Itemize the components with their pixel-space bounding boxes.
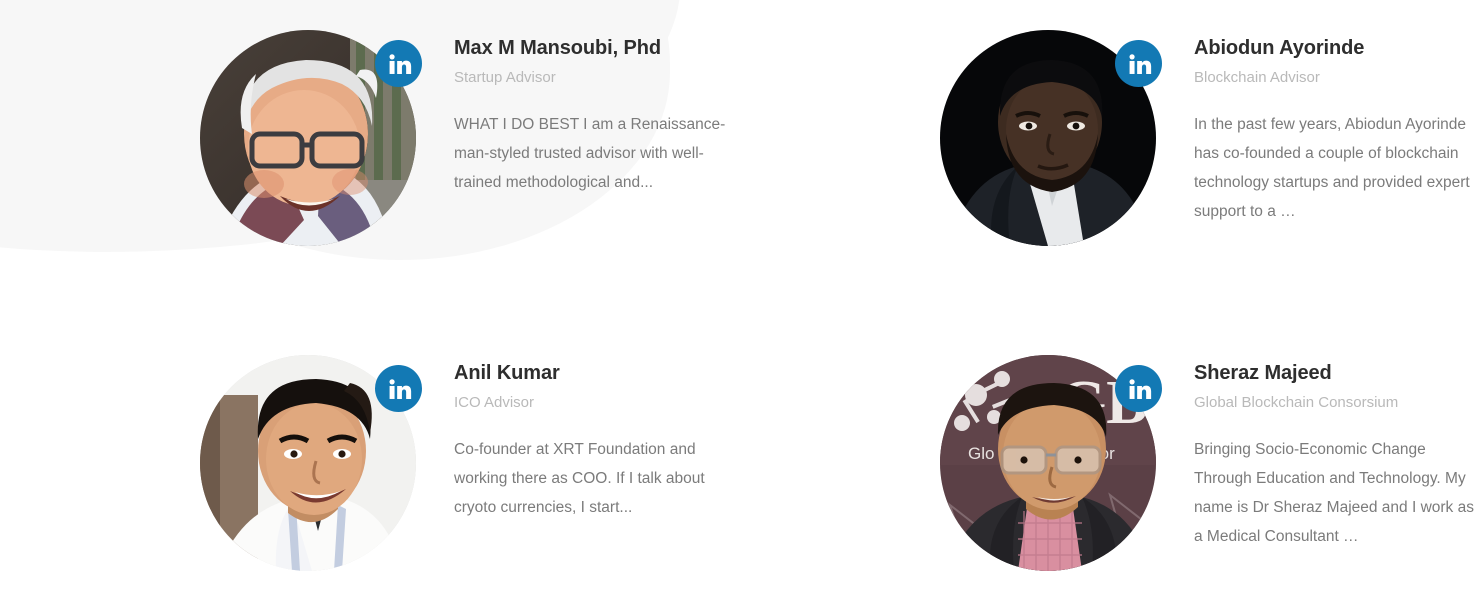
advisors-section: Max M Mansoubi, Phd Startup Advisor WHAT…: [0, 0, 1481, 602]
advisor-role: Blockchain Advisor: [1194, 68, 1476, 88]
advisor-bio: Co-founder at XRT Foundation and working…: [454, 435, 736, 522]
advisor-name: Max M Mansoubi, Phd: [454, 36, 736, 60]
avatar-wrapper: GB Glo ain Cor ECT: [940, 355, 1156, 571]
linkedin-icon[interactable]: [1115, 365, 1162, 412]
advisor-bio: Bringing Socio-Economic Change Through E…: [1194, 435, 1476, 551]
svg-text:Glo: Glo: [968, 444, 994, 463]
advisor-card: GB Glo ain Cor ECT: [740, 335, 1480, 602]
advisor-role: Startup Advisor: [454, 68, 736, 88]
advisors-grid: Max M Mansoubi, Phd Startup Advisor WHAT…: [0, 0, 1481, 602]
advisor-info: Max M Mansoubi, Phd Startup Advisor WHAT…: [416, 30, 736, 197]
advisor-name: Anil Kumar: [454, 361, 736, 385]
linkedin-icon[interactable]: [375, 40, 422, 87]
advisor-info: Abiodun Ayorinde Blockchain Advisor In t…: [1156, 30, 1476, 226]
advisor-card: Max M Mansoubi, Phd Startup Advisor WHAT…: [0, 0, 740, 335]
linkedin-icon[interactable]: [1115, 40, 1162, 87]
advisor-name: Abiodun Ayorinde: [1194, 36, 1476, 60]
linkedin-icon[interactable]: [375, 365, 422, 412]
advisor-name: Sheraz Majeed: [1194, 361, 1476, 385]
advisor-bio: WHAT I DO BEST I am a Renaissance-man-st…: [454, 110, 736, 197]
advisor-info: Sheraz Majeed Global Blockchain Consorsi…: [1156, 355, 1476, 551]
avatar-wrapper: [200, 355, 416, 571]
advisor-info: Anil Kumar ICO Advisor Co-founder at XRT…: [416, 355, 736, 522]
avatar-wrapper: [940, 30, 1156, 246]
avatar-wrapper: [200, 30, 416, 246]
advisor-role: ICO Advisor: [454, 393, 736, 413]
advisor-bio: In the past few years, Abiodun Ayorinde …: [1194, 110, 1476, 226]
advisor-role: Global Blockchain Consorsium: [1194, 393, 1476, 413]
advisor-card: Anil Kumar ICO Advisor Co-founder at XRT…: [0, 335, 740, 602]
advisor-card: Abiodun Ayorinde Blockchain Advisor In t…: [740, 0, 1480, 335]
